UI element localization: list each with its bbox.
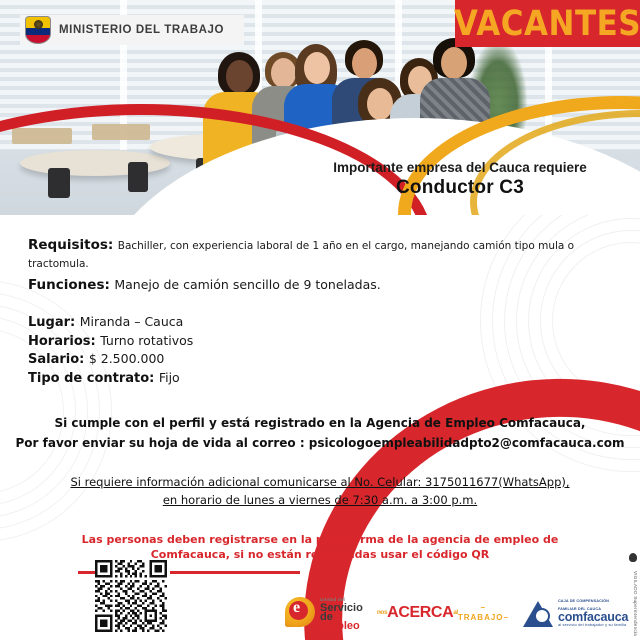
apply-instructions: Si cumple con el perfil y está registrad… xyxy=(0,413,640,453)
colombia-coat-of-arms-icon xyxy=(25,16,51,44)
apply-line-2: Por favor enviar su hoja de vida al corr… xyxy=(0,433,640,453)
ministry-label: MINISTERIO DEL TRABAJO xyxy=(59,24,224,36)
acerca-main-line: nosACERCAal xyxy=(377,608,458,618)
detail-label: Salario: xyxy=(28,352,84,367)
detail-salario: Salario: $ 2.500.000 xyxy=(28,350,193,369)
detail-label: Horarios: xyxy=(28,334,96,349)
functions-row: Funciones: Manejo de camión sencillo de … xyxy=(28,276,628,294)
job-title-block: Importante empresa del Cauca requiere Co… xyxy=(300,160,620,199)
vigilado-emblem-icon xyxy=(629,553,637,562)
servicio-empleo-line2: de Empleo xyxy=(320,613,363,631)
red-rule-right xyxy=(170,571,300,574)
qr-code[interactable] xyxy=(95,560,167,632)
job-details-list: Lugar: Miranda – Cauca Horarios: Turno r… xyxy=(28,313,193,387)
servicio-empleo-empleo: Empleo xyxy=(320,620,360,632)
contact-instructions: Si requiere información adicional comuni… xyxy=(0,473,640,509)
vacantes-label: VACANTES xyxy=(454,3,640,43)
vacantes-banner: VACANTES xyxy=(455,0,640,47)
detail-value: Miranda – Cauca xyxy=(80,314,184,329)
requirements-label: Requisitos: xyxy=(28,237,113,253)
contact-line-2: en horario de lunes a viernes de 7:30 a.… xyxy=(0,491,640,509)
comfacauca-tagline: al servicio del trabajador y su familia xyxy=(558,621,628,629)
functions-value: Manejo de camión sencillo de 9 toneladas… xyxy=(114,277,380,292)
detail-horarios: Horarios: Turno rotativos xyxy=(28,332,193,351)
comfacauca-name: comfacauca xyxy=(558,613,628,621)
comfacauca-mark-icon xyxy=(523,599,553,627)
company-line: Importante empresa del Cauca requiere xyxy=(300,160,620,175)
acerca-sub: –TRABAJO– xyxy=(458,603,509,623)
ministry-badge: MINISTERIO DEL TRABAJO xyxy=(20,15,244,45)
apply-line-1: Si cumple con el perfil y está registrad… xyxy=(0,413,640,433)
logo-acerca-al-trabajo: nosACERCAal –TRABAJO– xyxy=(377,603,509,623)
vacancy-poster: MINISTERIO DEL TRABAJO VACANTES Importan… xyxy=(0,0,640,640)
detail-value: Fijo xyxy=(159,370,180,385)
vigilado-label: VIGILADO Superintendencia xyxy=(633,571,638,636)
detail-lugar: Lugar: Miranda – Cauca xyxy=(28,313,193,332)
qr-instructions: Las personas deben registrarse en la pla… xyxy=(0,532,640,562)
acerca-word: ACERCA xyxy=(387,604,453,621)
logo-comfacauca: CAJA DE COMPENSACIÓN FAMILIAR DEL CAUCA … xyxy=(523,597,628,629)
detail-value: $ 2.500.000 xyxy=(89,351,165,366)
functions-label: Funciones: xyxy=(28,277,110,293)
qr-note-line-1: Las personas deben registrarse en la pla… xyxy=(0,532,640,547)
requirements-row: Requisitos: Bachiller, con experiencia l… xyxy=(28,236,628,272)
detail-label: Tipo de contrato: xyxy=(28,371,154,386)
servicio-empleo-pin-icon xyxy=(285,597,315,630)
detail-value: Turno rotativos xyxy=(100,333,193,348)
detail-label: Lugar: xyxy=(28,315,75,330)
job-position: Conductor C3 xyxy=(300,177,620,199)
footer-logos: Unidad del Servicio de Empleo nosACERCAa… xyxy=(285,590,615,636)
acerca-pre: nos xyxy=(377,609,387,616)
logo-servicio-de-empleo: Unidad del Servicio de Empleo xyxy=(285,595,363,631)
contact-line-1: Si requiere información adicional comuni… xyxy=(0,473,640,491)
detail-tipo-contrato: Tipo de contrato: Fijo xyxy=(28,369,193,388)
